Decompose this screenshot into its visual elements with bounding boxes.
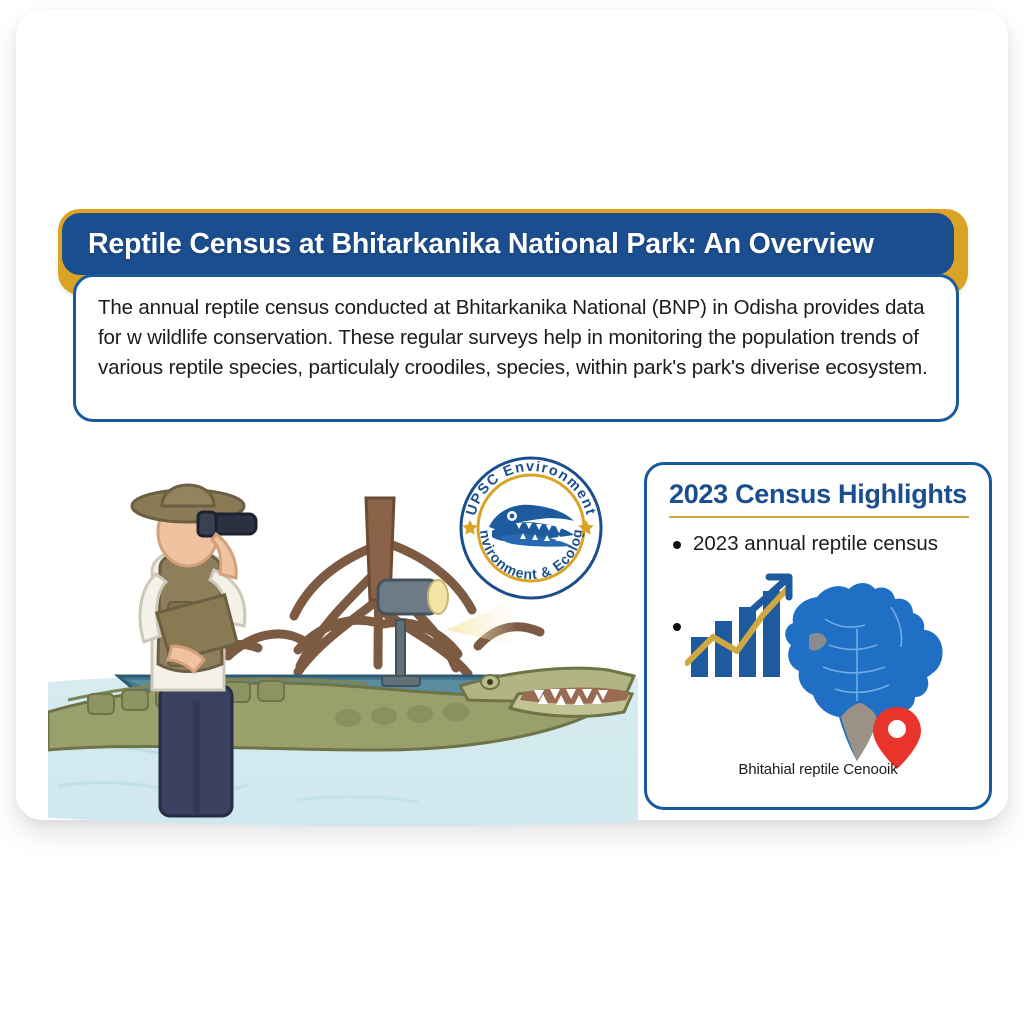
page-title: Reptile Census at Bhitarkanika National …: [88, 228, 874, 261]
bullet-label: 2023 annual reptile census: [693, 530, 938, 558]
location-pin-icon: [873, 707, 921, 769]
map-caption: Bhitahial reptile Cenooik: [647, 761, 989, 778]
highlights-panel: 2023 Census Highlights 2023 annual repti…: [644, 462, 992, 810]
india-map: [765, 571, 955, 776]
title-bar: Reptile Census at Bhitarkanika National …: [62, 213, 954, 275]
overview-paragraph: The annual reptile census conducted at B…: [98, 293, 934, 383]
bullet-icon: [673, 541, 681, 549]
infographic-card: Reptile Census at Bhitarkanika National …: [16, 10, 1008, 820]
highlights-divider: [669, 516, 969, 518]
list-item: 2023 annual reptile census: [667, 530, 971, 558]
highlights-graphics: Bhitahial reptile Cenooik: [647, 593, 989, 810]
upsc-environment-badge: UPSC Environment Environment & Ecology: [456, 453, 606, 603]
overview-text-box: The annual reptile census conducted at B…: [73, 274, 959, 422]
highlights-title: 2023 Census Highlights: [667, 479, 971, 510]
